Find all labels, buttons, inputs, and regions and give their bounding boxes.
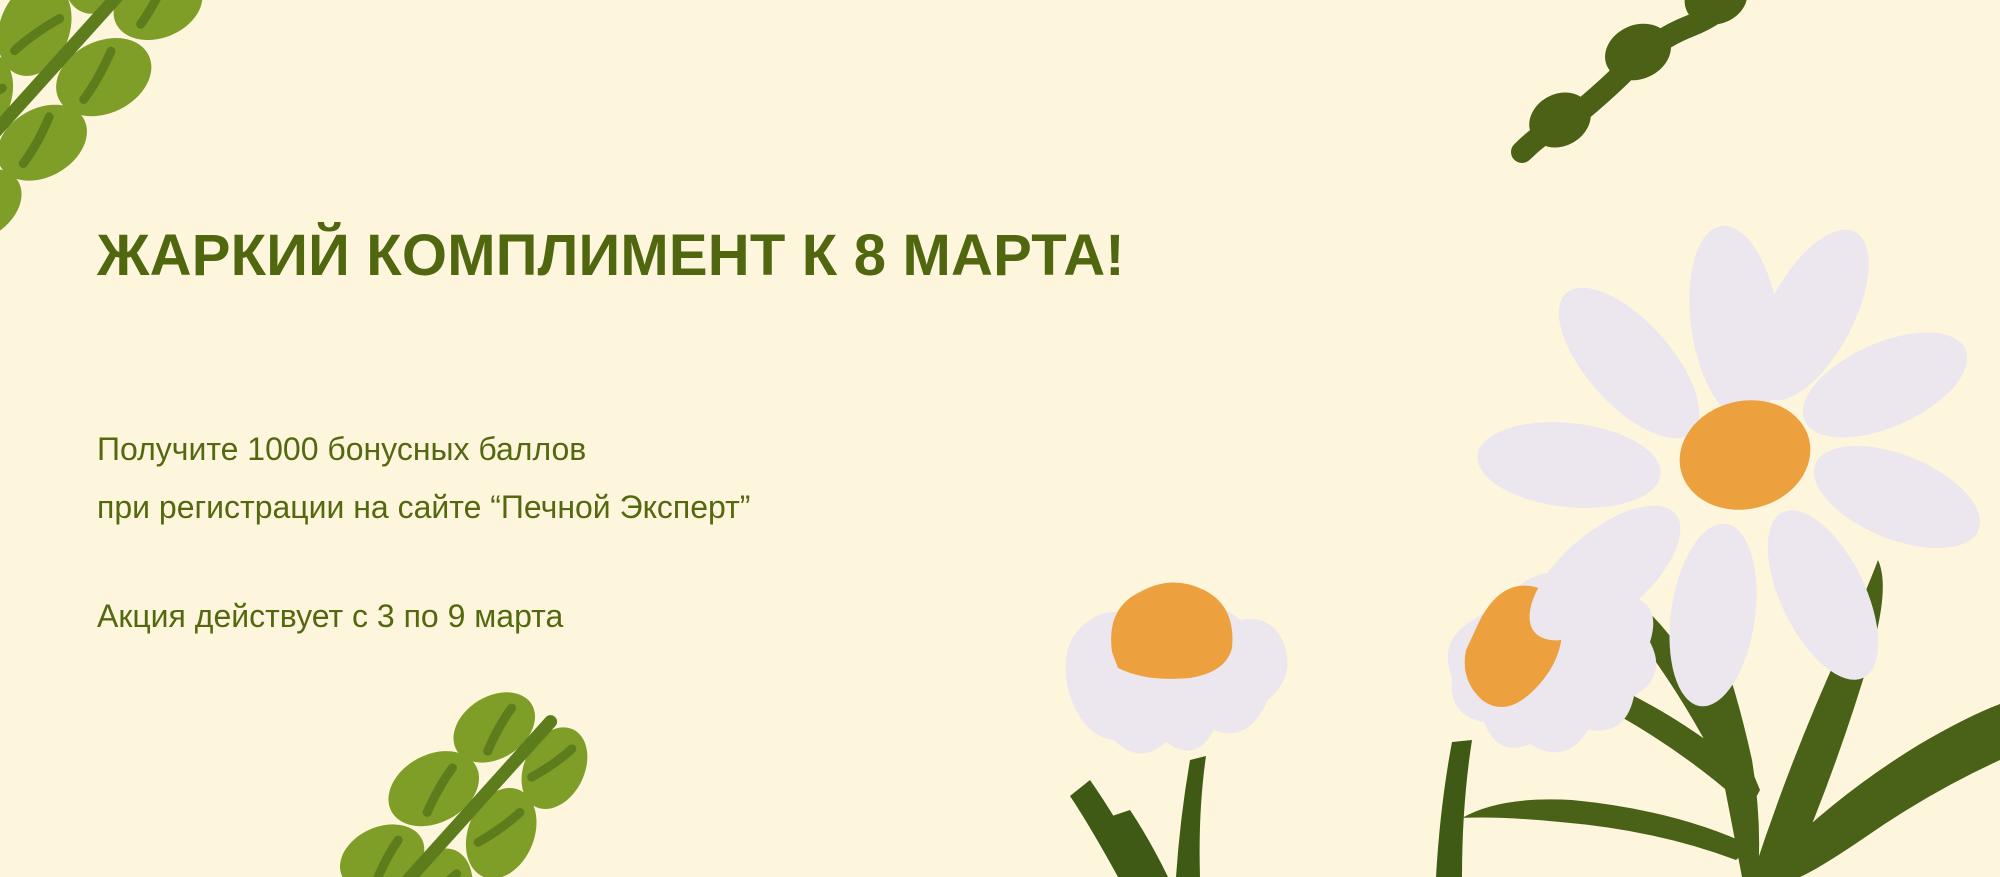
promo-period-text: Акция действует с 3 по 9 марта [97,594,563,638]
daisy-side-middle-icon [1436,572,1656,877]
vine-top-right-icon [1520,0,1755,158]
offer-line-1: Получите 1000 бонусных баллов [97,420,750,478]
daisy-large-right-icon [1473,212,1994,712]
offer-line-2: при регистрации на сайте “Печной Эксперт… [97,478,750,536]
banner-text-content: ЖАРКИЙ КОМПЛИМЕНТ К 8 МАРТА! Получите 10… [97,0,1197,877]
lance-leaves-bottom-right-icon [1462,560,2000,877]
promo-banner: ЖАРКИЙ КОМПЛИМЕНТ К 8 МАРТА! Получите 10… [0,0,2000,877]
promo-period: Акция действует с 3 по 9 марта [97,594,563,638]
page-title: ЖАРКИЙ КОМПЛИМЕНТ К 8 МАРТА! [97,226,1125,287]
offer-description: Получите 1000 бонусных баллов при регист… [97,420,750,536]
